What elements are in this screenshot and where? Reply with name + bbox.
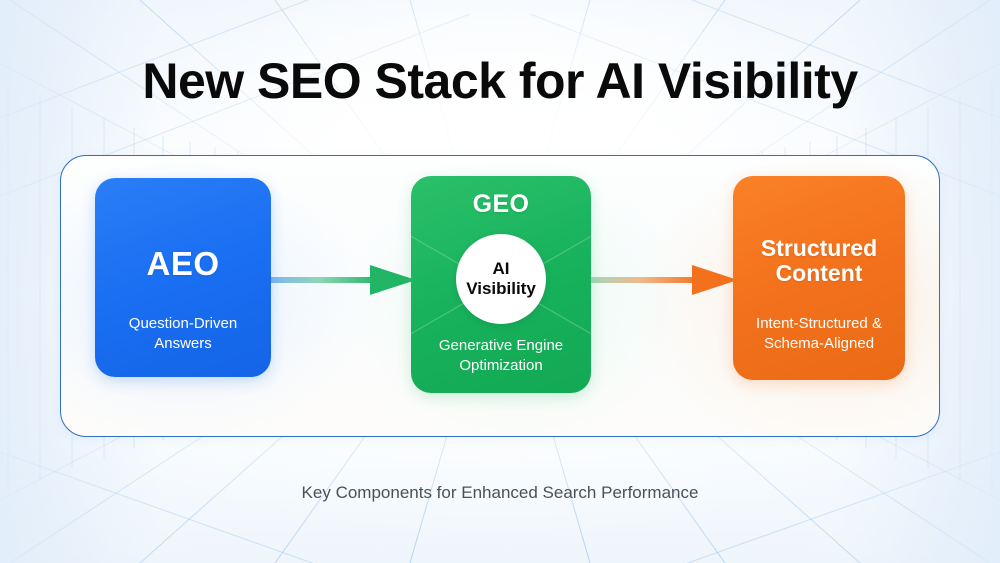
card-aeo-subtitle-line1: Question-Driven — [95, 314, 271, 334]
card-geo-title: GEO — [411, 191, 591, 218]
card-geo-subtitle-line2: Optimization — [411, 356, 591, 376]
ai-visibility-hub-line1: AI — [466, 259, 536, 279]
arrow-aeo-to-geo — [268, 263, 416, 297]
card-structured-content-subtitle: Intent-Structured & Schema-Aligned — [733, 314, 905, 353]
card-geo-subtitle: Generative Engine Optimization — [411, 336, 591, 375]
card-aeo-title: AEO — [95, 246, 271, 282]
ai-visibility-hub-text: AI Visibility — [466, 259, 536, 298]
ai-visibility-hub: AI Visibility — [456, 234, 546, 324]
arrow-geo-to-structured — [588, 263, 738, 297]
page-title: New SEO Stack for AI Visibility — [0, 52, 1000, 110]
card-aeo[interactable]: AEO Question-Driven Answers — [95, 178, 271, 377]
card-aeo-subtitle-line2: Answers — [95, 334, 271, 354]
ai-visibility-hub-line2: Visibility — [466, 279, 536, 299]
page-caption: Key Components for Enhanced Search Perfo… — [0, 483, 1000, 503]
card-structured-content-title-line1: Structured — [733, 236, 905, 261]
card-aeo-subtitle: Question-Driven Answers — [95, 314, 271, 353]
card-structured-content-subtitle-line1: Intent-Structured & — [733, 314, 905, 334]
card-structured-content-subtitle-line2: Schema-Aligned — [733, 334, 905, 354]
card-geo-subtitle-line1: Generative Engine — [411, 336, 591, 356]
card-structured-content-title-line2: Content — [733, 261, 905, 286]
card-structured-content-title: Structured Content — [733, 236, 905, 286]
slide-canvas: New SEO Stack for AI Visibility AEO — [0, 0, 1000, 563]
card-structured-content[interactable]: Structured Content Intent-Structured & S… — [733, 176, 905, 380]
